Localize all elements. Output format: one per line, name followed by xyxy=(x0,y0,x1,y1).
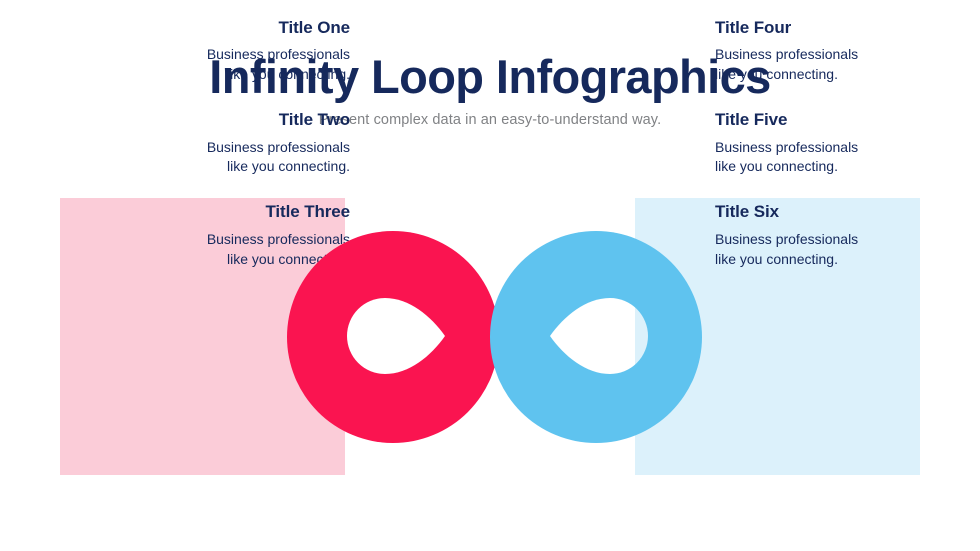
list-item[interactable]: Title One Business professionals like yo… xyxy=(207,18,350,85)
item-description: Business professionals like you connecti… xyxy=(207,138,350,178)
list-item[interactable]: Title Two Business professionals like yo… xyxy=(207,110,350,177)
list-item[interactable]: Title Six Business professionals like yo… xyxy=(715,202,858,269)
item-title: Title One xyxy=(207,18,350,38)
item-description: Business professionals like you connecti… xyxy=(207,45,350,85)
item-title: Title Two xyxy=(207,110,350,130)
right-text-column: Title Four Business professionals like y… xyxy=(715,0,945,277)
item-title: Title Six xyxy=(715,202,858,222)
item-title: Title Five xyxy=(715,110,858,130)
item-description: Business professionals like you connecti… xyxy=(715,138,858,178)
item-title: Title Three xyxy=(207,202,350,222)
infinity-loop-graphic xyxy=(285,223,710,453)
item-description: Business professionals like you connecti… xyxy=(715,45,858,85)
item-description: Business professionals like you connecti… xyxy=(715,230,858,270)
slide-canvas: Infinity Loop Infographics Present compl… xyxy=(0,0,980,551)
item-title: Title Four xyxy=(715,18,858,38)
red-ring[interactable] xyxy=(287,231,499,443)
blue-ring[interactable] xyxy=(490,231,702,443)
list-item[interactable]: Title Five Business professionals like y… xyxy=(715,110,858,177)
list-item[interactable]: Title Four Business professionals like y… xyxy=(715,18,858,85)
